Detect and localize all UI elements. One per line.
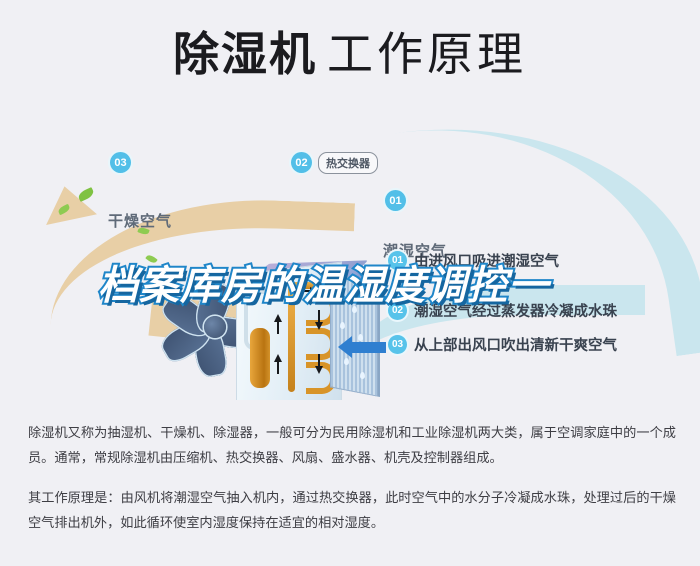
step-text-03: 从上部出风口吹出清新干爽空气	[414, 334, 617, 355]
callout-badge-01: 01	[385, 190, 406, 211]
page-title-part2: 工作原理	[327, 28, 527, 80]
body-copy: 除湿机又称为抽湿机、干燥机、除湿器，一般可分为民用除湿机和工业除湿机两大类，属于…	[28, 420, 676, 550]
flow-arrow-up-icon	[274, 354, 282, 362]
water-droplet-icon	[360, 372, 365, 379]
flow-arrow-down-icon	[315, 366, 323, 374]
page-title: 除湿机工作原理	[0, 26, 700, 82]
paragraph-2: 其工作原理是：由风机将潮湿空气抽入机内，通过热交换器，此时空气中的水分子冷凝成水…	[28, 485, 676, 535]
air-intake-arrow-icon	[352, 342, 386, 353]
flow-arrow-stem	[277, 320, 279, 334]
paragraph-1: 除湿机又称为抽湿机、干燥机、除湿器，一般可分为民用除湿机和工业除湿机两大类，属于…	[28, 420, 676, 470]
callout-label-heat-exchanger: 热交换器	[318, 152, 378, 174]
fan-hub	[204, 316, 226, 338]
callout-label-dry-air: 干燥空气	[108, 210, 172, 231]
water-droplet-icon	[344, 358, 349, 365]
flow-arrow-stem	[277, 360, 279, 374]
callout-badge-03: 03	[110, 152, 131, 173]
list-item: 03 从上部出风口吹出清新干爽空气	[388, 323, 688, 356]
compressor-cylinder	[250, 328, 270, 388]
water-droplet-icon	[340, 322, 345, 329]
page-title-part1: 除湿机	[173, 28, 317, 80]
water-droplet-icon	[358, 334, 363, 341]
flow-arrow-down-icon	[315, 322, 323, 330]
callout-badge-02: 02	[291, 152, 312, 173]
page-root: 除湿机工作原理	[0, 0, 700, 566]
flow-arrow-up-icon	[274, 314, 282, 322]
overlay-headline: 档案库房的温湿度调控一	[98, 262, 549, 310]
step-badge-03: 03	[388, 335, 407, 354]
